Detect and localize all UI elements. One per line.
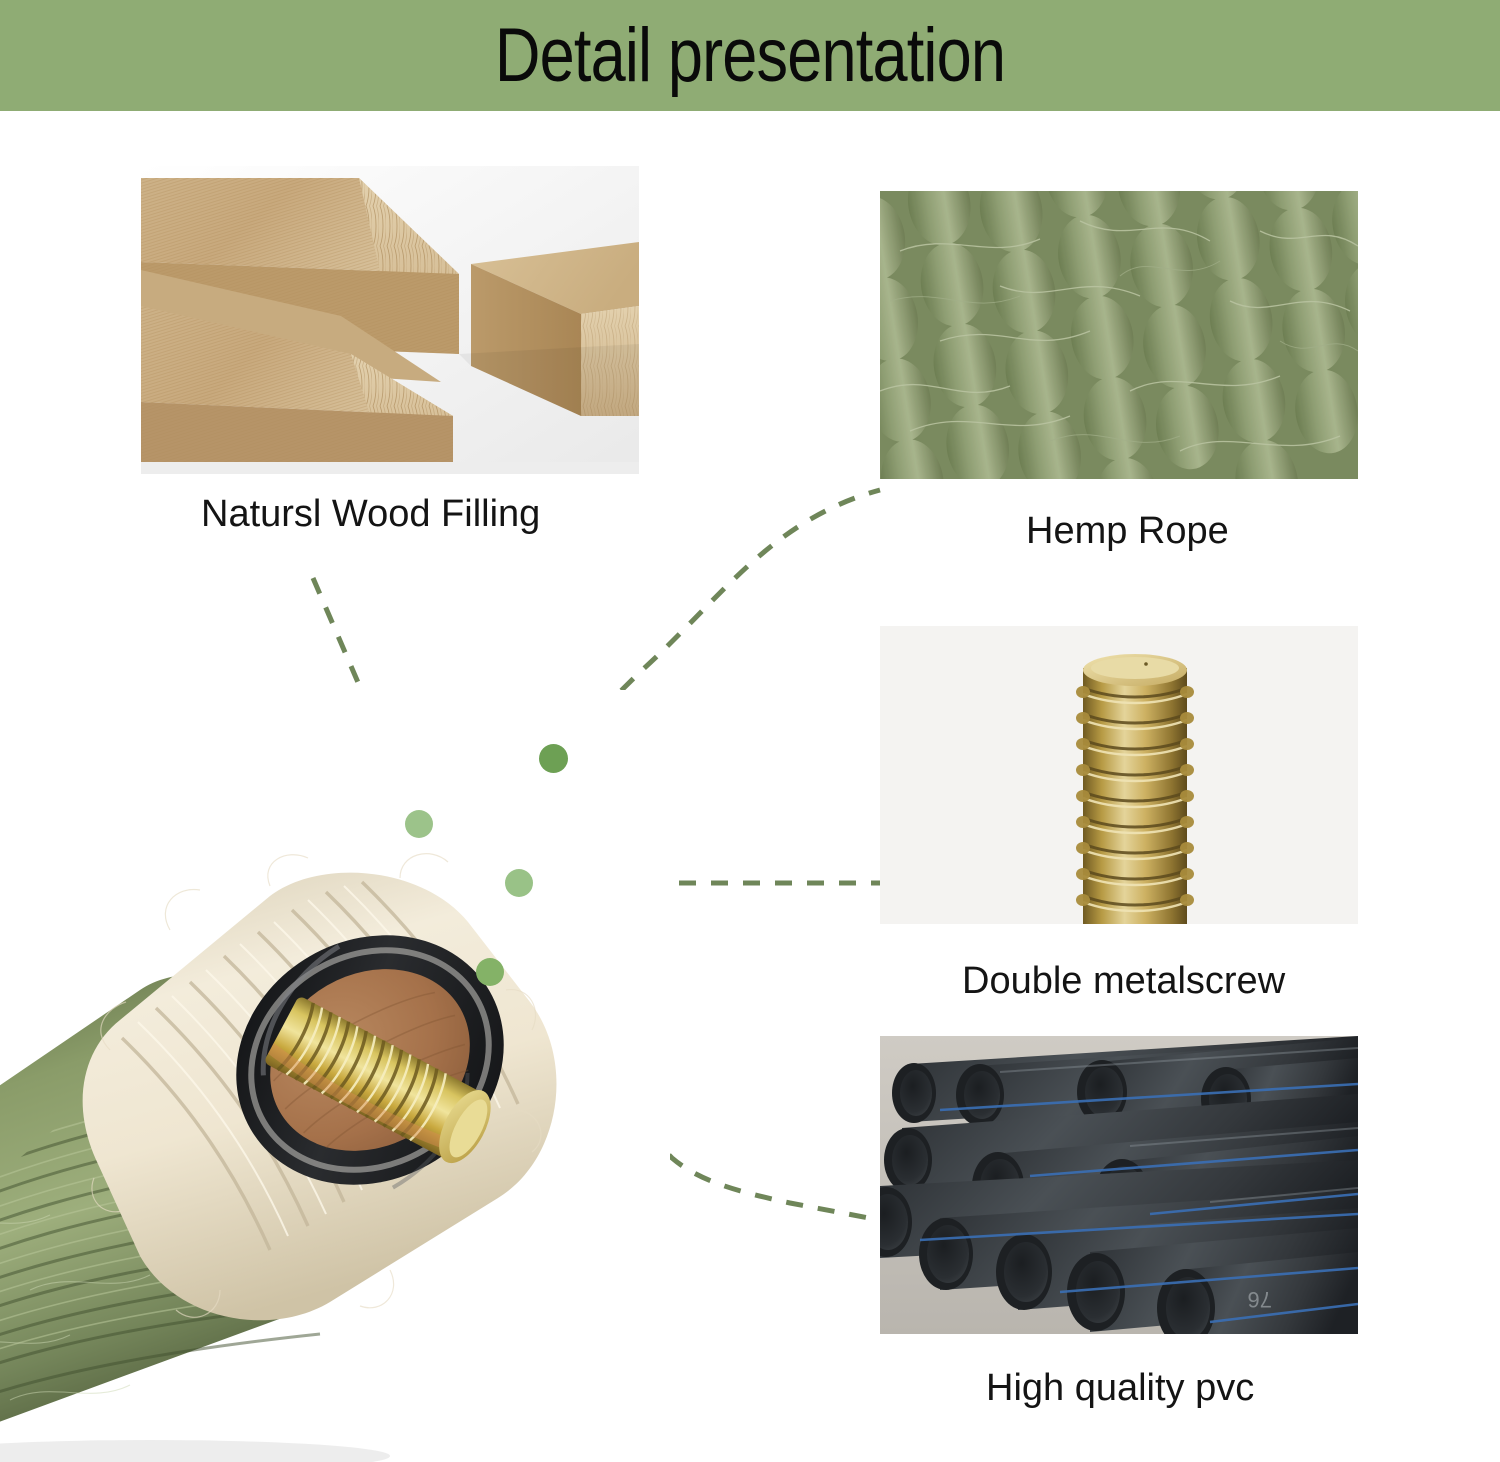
callout-dot-rope[interactable] <box>539 744 568 773</box>
hemp-rope-photo[interactable] <box>880 191 1358 479</box>
caption-rope: Hemp Rope <box>1026 512 1229 550</box>
brass-screw-photo[interactable] <box>880 626 1358 924</box>
caption-pvc: High quality pvc <box>986 1369 1254 1407</box>
wooden-beams-photo[interactable] <box>141 166 639 474</box>
svg-text:76: 76 <box>1248 1287 1272 1312</box>
caption-wood: Natursl Wood Filling <box>201 495 540 533</box>
caption-screw: Double metalscrew <box>962 962 1285 1000</box>
pvc-pipes-photo[interactable]: 76 <box>880 1036 1358 1334</box>
detail-presentation-page: Detail presentation <box>0 0 1500 1462</box>
callout-dot-pvc[interactable] <box>476 958 504 986</box>
callout-dot-wood[interactable] <box>405 810 433 838</box>
callout-dot-screw[interactable] <box>505 869 533 897</box>
cat-scratching-post-end-photo[interactable] <box>0 690 670 1462</box>
